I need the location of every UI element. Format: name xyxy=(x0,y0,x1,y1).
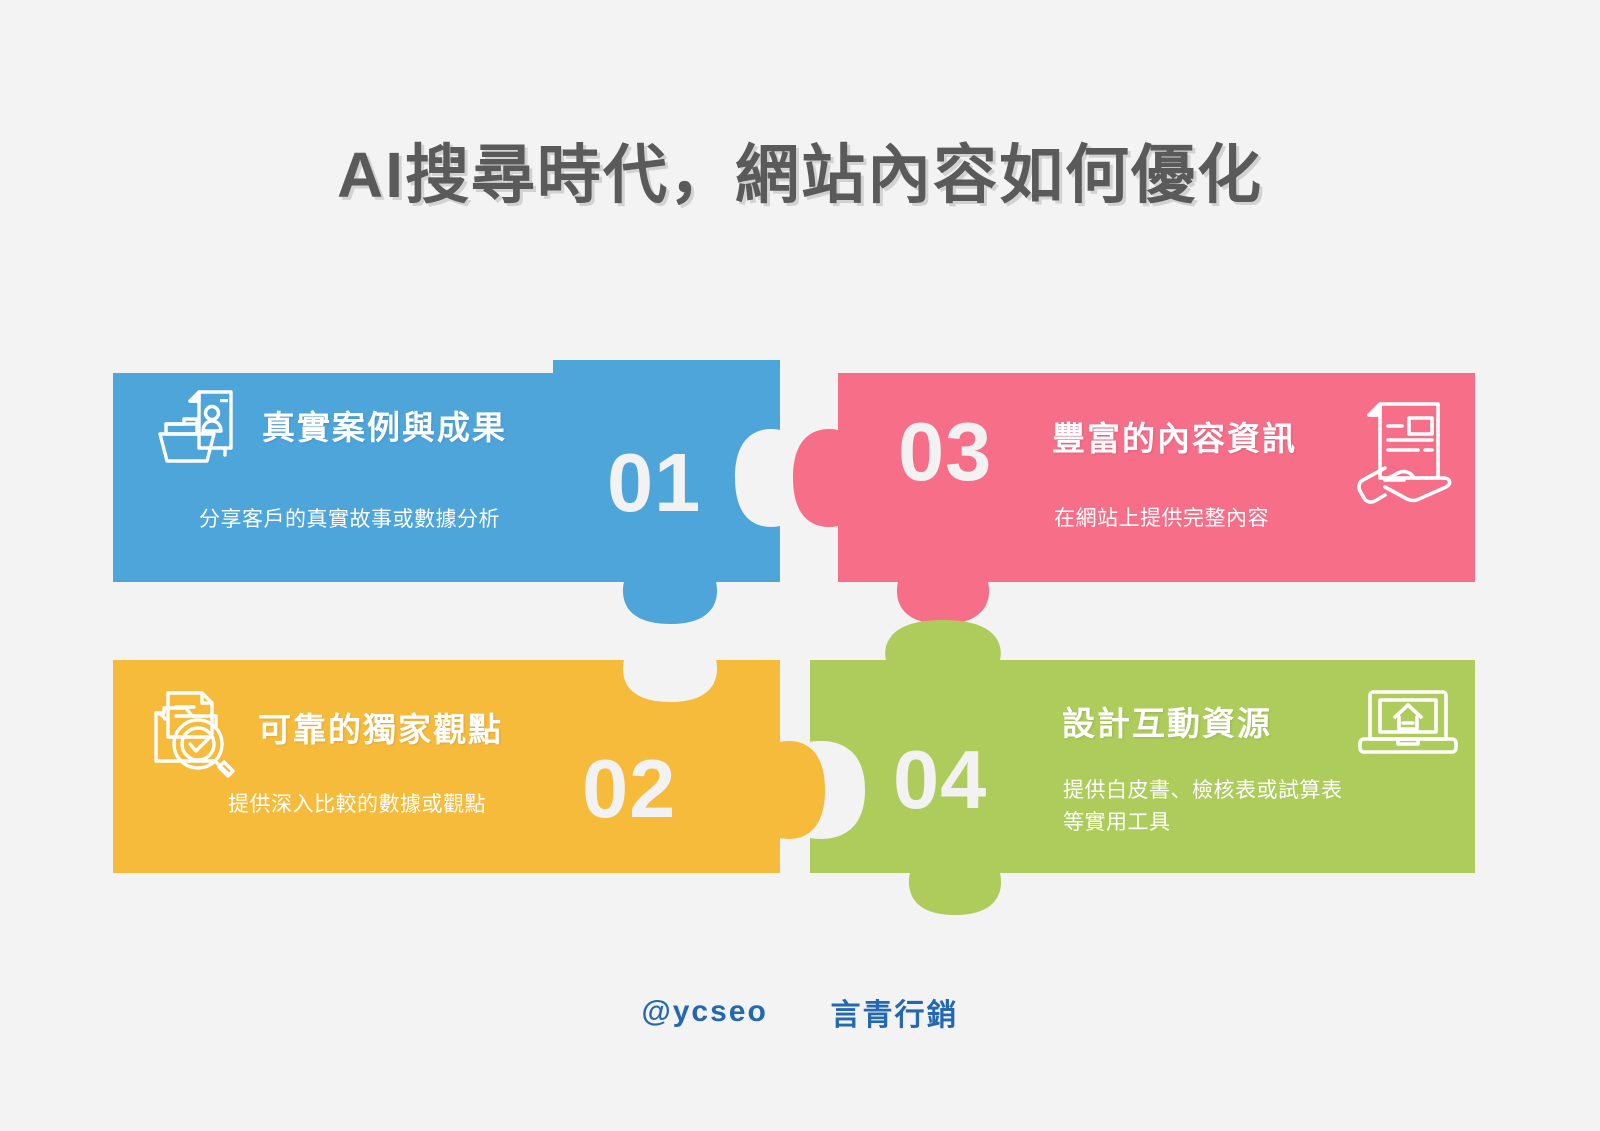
piece-03-subtitle: 在網站上提供完整內容 xyxy=(1054,503,1269,535)
piece-03-number: 03 xyxy=(898,410,992,493)
hand-holding-document-icon xyxy=(1352,396,1458,516)
puzzle-graphic xyxy=(0,0,1600,1131)
piece-04-subtitle-line2: 等實用工具 xyxy=(1063,807,1343,839)
piece-02-heading: 可靠的獨家觀點 xyxy=(258,703,503,751)
piece-01-subtitle: 分享客戶的真實故事或數據分析 xyxy=(199,504,500,536)
footer-brand: 言青行銷 xyxy=(831,999,959,1032)
piece-04-heading: 設計互動資源 xyxy=(1062,697,1272,745)
piece-04-number: 04 xyxy=(893,738,987,821)
piece-01-number: 01 xyxy=(607,441,701,524)
infographic-canvas: AI搜尋時代，網站內容如何優化 真實案例與成果 分享客戶的真實故事或數據分析 0… xyxy=(0,0,1600,1131)
laptop-house-icon xyxy=(1358,686,1458,758)
footer: @ycseo 言青行銷 xyxy=(0,990,1600,1034)
piece-02-subtitle: 提供深入比較的數據或觀點 xyxy=(228,789,486,821)
piece-03-heading: 豐富的內容資訊 xyxy=(1052,412,1297,460)
folder-magnifier-check-icon xyxy=(146,680,246,780)
piece-04-subtitle-line1: 提供白皮書、檢核表或試算表 xyxy=(1063,775,1343,807)
piece-01-heading: 真實案例與成果 xyxy=(262,401,507,449)
piece-04-subtitle: 提供白皮書、檢核表或試算表 等實用工具 xyxy=(1063,775,1343,838)
piece-02-number: 02 xyxy=(582,747,676,830)
folder-document-person-icon xyxy=(152,384,244,476)
footer-handle: @ycseo xyxy=(641,995,767,1028)
